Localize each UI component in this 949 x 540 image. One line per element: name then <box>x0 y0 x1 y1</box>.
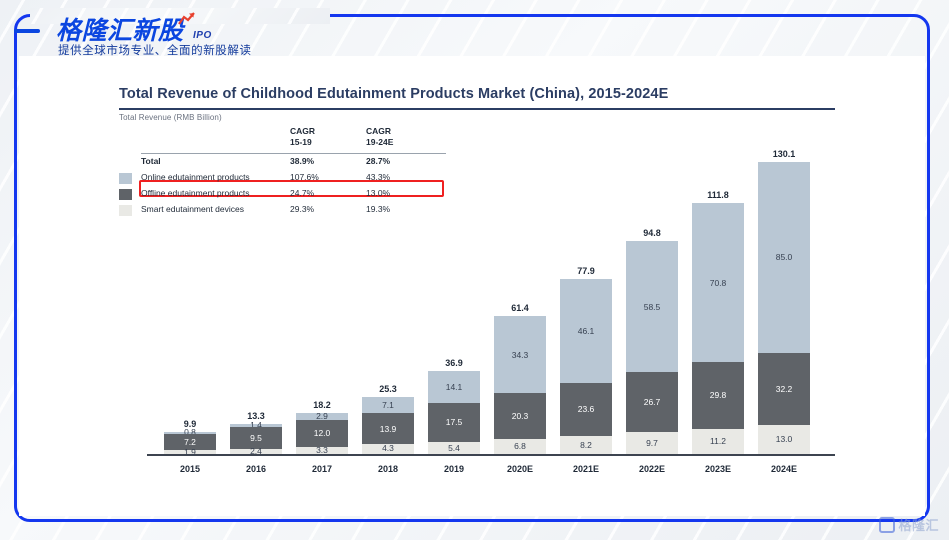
bar-segment: 13.9 <box>362 413 414 444</box>
bar-segment-value: 23.6 <box>578 404 595 414</box>
brand-header: 格隆汇新股 IPO 提供全球市场专业、全面的新股解读 <box>42 8 342 56</box>
bar-segment-value: 13.9 <box>380 424 397 434</box>
x-axis-label: 2024E <box>758 464 810 474</box>
bar-segment-value: 20.3 <box>512 411 529 421</box>
chart-title: Total Revenue of Childhood Edutainment P… <box>119 86 668 102</box>
bar-segment: 34.3 <box>494 316 546 393</box>
bar-segment-value: 2.4 <box>250 449 262 454</box>
bar-total-label: 130.1 <box>758 149 810 159</box>
bar-segment-value: 6.8 <box>514 441 526 451</box>
bar-segment: 58.5 <box>626 241 678 372</box>
bar-segment: 7.1 <box>362 397 414 413</box>
bar-segment: 13.0 <box>758 425 810 454</box>
x-axis-label: 2017 <box>296 464 348 474</box>
bar-segment-value: 32.2 <box>776 384 793 394</box>
bar-segment-value: 70.8 <box>710 278 727 288</box>
bar-segment: 8.2 <box>560 436 612 454</box>
bar-segment-value: 5.4 <box>448 443 460 453</box>
bar-segment-value: 8.2 <box>580 440 592 450</box>
bar-segment: 85.0 <box>758 162 810 353</box>
x-axis-label: 2018 <box>362 464 414 474</box>
bar-segment-value: 58.5 <box>644 302 661 312</box>
bar-segment-value: 9.7 <box>646 438 658 448</box>
bar-segment: 14.1 <box>428 371 480 403</box>
bar-segment: 11.2 <box>692 429 744 454</box>
bar-segment: 9.7 <box>626 432 678 454</box>
x-axis-label: 2020E <box>494 464 546 474</box>
bar-total-label: 61.4 <box>494 303 546 313</box>
bar-total-label: 36.9 <box>428 358 480 368</box>
arrow-up-icon <box>178 12 196 26</box>
bar-segment-value: 4.3 <box>382 444 394 454</box>
bar-segment-value: 46.1 <box>578 326 595 336</box>
bar-total-label: 111.8 <box>692 190 744 200</box>
title-underline <box>119 108 835 110</box>
bar-column: 34.320.36.8 <box>494 316 546 454</box>
x-axis-label: 2023E <box>692 464 744 474</box>
x-axis-label: 2015 <box>164 464 216 474</box>
bar-column: 70.829.811.2 <box>692 203 744 454</box>
slide-canvas: 格隆汇新股 IPO 提供全球市场专业、全面的新股解读 Total Revenue… <box>0 0 949 540</box>
bar-column: 46.123.68.2 <box>560 279 612 454</box>
bar-total-label: 77.9 <box>560 266 612 276</box>
bar-segment-value: 12.0 <box>314 428 331 438</box>
x-axis-label: 2019 <box>428 464 480 474</box>
bar-segment-value: 29.8 <box>710 390 727 400</box>
bar-segment: 17.5 <box>428 403 480 442</box>
watermark-text: 格隆汇 <box>898 515 939 534</box>
bar-segment: 2.4 <box>230 449 282 454</box>
bar-segment-value: 11.2 <box>710 436 726 446</box>
bar-column: 85.032.213.0 <box>758 162 810 454</box>
bar-segment: 5.4 <box>428 442 480 454</box>
bar-segment: 1.9 <box>164 450 216 454</box>
bar-column: 1.49.52.4 <box>230 424 282 454</box>
brand-suffix: IPO <box>193 30 212 41</box>
bar-segment-value: 85.0 <box>776 252 793 262</box>
bar-total-label: 9.9 <box>164 419 216 429</box>
bar-segment: 29.8 <box>692 362 744 429</box>
bar-total-label: 18.2 <box>296 400 348 410</box>
bar-segment-value: 26.7 <box>644 397 661 407</box>
bar-segment-value: 34.3 <box>512 350 529 360</box>
gelonghui-logo-icon <box>879 517 895 533</box>
watermark: 格隆汇 <box>879 515 939 534</box>
bar-segment-value: 3.3 <box>316 447 328 454</box>
bar-segment-value: 7.1 <box>382 400 394 410</box>
bar-segment: 3.3 <box>296 447 348 454</box>
bar-segment: 26.7 <box>626 372 678 432</box>
chart-card: Total Revenue of Childhood Edutainment P… <box>19 56 925 516</box>
bar-segment: 20.3 <box>494 393 546 439</box>
bar-segment: 4.3 <box>362 444 414 454</box>
bar-segment: 12.0 <box>296 420 348 447</box>
bar-column: 0.87.21.9 <box>164 432 216 454</box>
bar-segment: 46.1 <box>560 279 612 382</box>
bar-segment-value: 7.2 <box>184 437 196 447</box>
chart-subtitle: Total Revenue (RMB Billion) <box>119 113 222 122</box>
x-axis-label: 2016 <box>230 464 282 474</box>
x-axis-label: 2021E <box>560 464 612 474</box>
bar-column: 58.526.79.7 <box>626 241 678 454</box>
bar-total-label: 94.8 <box>626 228 678 238</box>
stacked-bar-plot: 0.87.21.99.920151.49.52.413.320162.912.0… <box>119 136 835 478</box>
bar-segment-value: 17.5 <box>446 417 463 427</box>
bar-segment: 32.2 <box>758 353 810 425</box>
bar-segment-value: 14.1 <box>446 382 463 392</box>
bar-column: 14.117.55.4 <box>428 371 480 454</box>
bar-segment: 6.8 <box>494 439 546 454</box>
bar-segment-value: 13.0 <box>776 434 793 444</box>
bar-segment-value: 1.9 <box>184 450 196 454</box>
bar-column: 7.113.94.3 <box>362 397 414 454</box>
bar-total-label: 13.3 <box>230 411 282 421</box>
bar-segment: 23.6 <box>560 383 612 436</box>
bar-total-label: 25.3 <box>362 384 414 394</box>
bar-segment-value: 9.5 <box>250 433 262 443</box>
brand-rule-icon <box>14 29 40 33</box>
bar-segment: 70.8 <box>692 203 744 362</box>
bar-column: 2.912.03.3 <box>296 413 348 454</box>
x-axis-label: 2022E <box>626 464 678 474</box>
